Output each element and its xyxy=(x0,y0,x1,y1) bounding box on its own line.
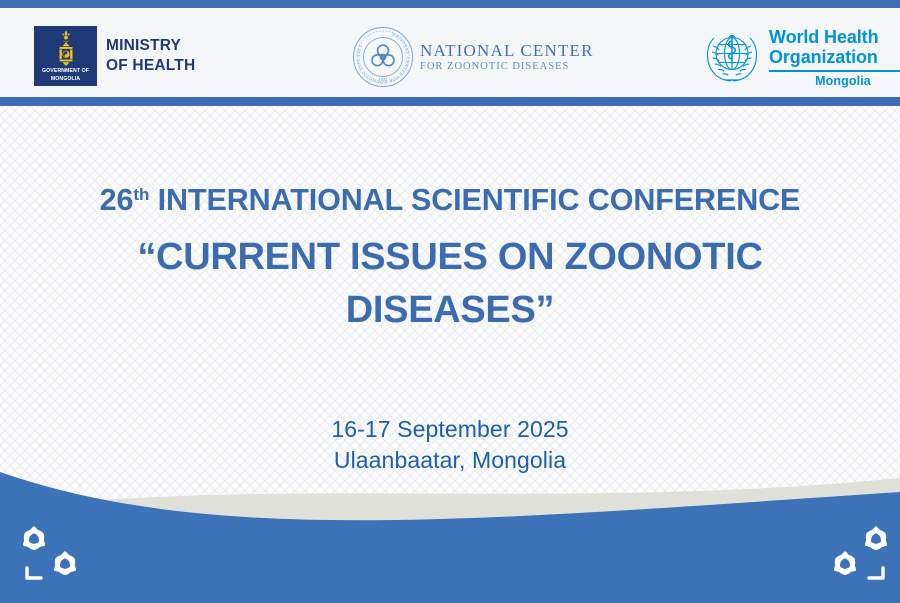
ministry-name-line1: MINISTRY xyxy=(106,36,195,56)
emblem-caption-line1: GOVERNMENT OF xyxy=(34,68,97,74)
triquetra-ornament-right xyxy=(812,521,896,587)
mongolia-government-emblem: GOVERNMENT OF MONGOLIA xyxy=(34,26,97,86)
ministry-of-health-logo: GOVERNMENT OF MONGOLIA MINISTRY OF HEALT… xyxy=(34,26,195,86)
conference-ordinal: 26 xyxy=(100,183,134,217)
conference-ordinal-suffix: th xyxy=(133,185,149,204)
national-center-name-line1: NATIONAL CENTER xyxy=(420,41,594,60)
event-date: 16-17 September 2025 xyxy=(0,414,900,445)
who-country-label: Mongolia xyxy=(769,74,900,88)
who-logo: World Health Organization Mongolia xyxy=(701,26,900,88)
who-name-line2: Organization xyxy=(769,47,900,67)
event-location: Ulaanbaatar, Mongolia xyxy=(0,445,900,476)
zoonotic-seal-icon: NATIONAL CENTER FOR ZOONOTIC DISEASES 19… xyxy=(352,26,414,88)
top-accent-bar xyxy=(0,0,900,8)
emblem-caption-line2: MONGOLIA xyxy=(34,76,97,82)
triquetra-ornament-left xyxy=(14,521,98,587)
conference-title-text: INTERNATIONAL SCIENTIFIC CONFERENCE xyxy=(158,183,801,217)
conference-heading: 26th INTERNATIONAL SCIENTIFIC CONFERENCE xyxy=(0,174,900,221)
conference-theme-line2: DISEASES” xyxy=(0,284,900,337)
soyombo-icon xyxy=(49,30,83,66)
conference-theme-line1: “CURRENT ISSUES ON ZOONOTIC xyxy=(0,231,900,284)
conference-theme: “CURRENT ISSUES ON ZOONOTIC DISEASES” xyxy=(0,231,900,337)
svg-text:1931: 1931 xyxy=(378,77,388,82)
event-details: 16-17 September 2025 Ulaanbaatar, Mongol… xyxy=(0,414,900,476)
national-center-name-line2: FOR ZOONOTIC DISEASES xyxy=(420,60,594,74)
title-block: 26th INTERNATIONAL SCIENTIFIC CONFERENCE… xyxy=(0,174,900,337)
who-name: World Health Organization Mongolia xyxy=(769,27,900,88)
logo-row: GOVERNMENT OF MONGOLIA MINISTRY OF HEALT… xyxy=(0,8,900,97)
header-accent-bar xyxy=(0,97,900,106)
ministry-name-line2: OF HEALTH xyxy=(106,56,195,76)
who-emblem-icon xyxy=(701,26,763,88)
conference-title-slide: GOVERNMENT OF MONGOLIA MINISTRY OF HEALT… xyxy=(0,0,900,603)
who-name-line1: World Health xyxy=(769,27,900,47)
national-center-logo: NATIONAL CENTER FOR ZOONOTIC DISEASES 19… xyxy=(352,26,594,88)
national-center-name: NATIONAL CENTER FOR ZOONOTIC DISEASES xyxy=(420,41,594,74)
ministry-of-health-name: MINISTRY OF HEALTH xyxy=(106,36,195,76)
who-divider xyxy=(769,70,900,72)
